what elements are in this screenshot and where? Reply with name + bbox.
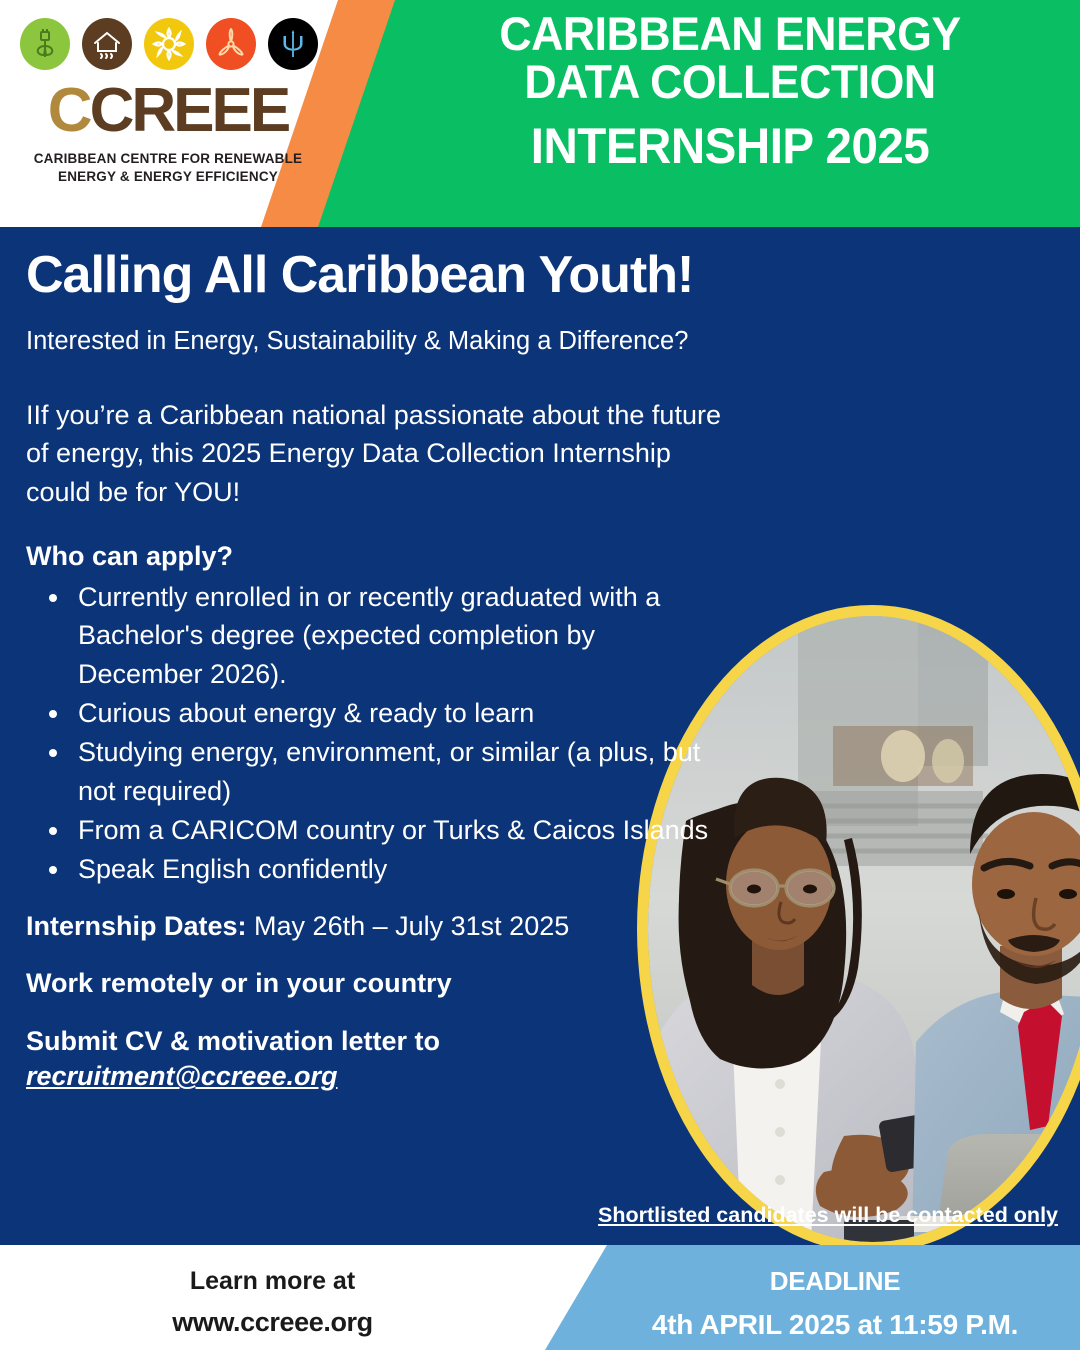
ccreee-logo: CCREEE CARIBBEAN CENTRE FOR RENEWABLE EN… [18, 18, 318, 186]
energy-efficient-house-icon [82, 18, 132, 70]
page-title: Calling All Caribbean Youth! [26, 247, 726, 304]
website-link[interactable]: www.ccreee.org [0, 1303, 545, 1342]
logo-wordmark: CCREEE [18, 80, 318, 142]
subheading: Interested in Energy, Sustainability & M… [26, 326, 726, 358]
list-item: Curious about energy & ready to learn [72, 694, 726, 732]
recruitment-email-link[interactable]: recruitment@ccreee.org [26, 1061, 337, 1091]
bioenergy-plug-plant-icon [20, 18, 70, 70]
logo-icon-row [20, 18, 318, 70]
header-band: CARIBBEAN ENERGY DATA COLLECTION INTERNS… [0, 0, 1080, 227]
logo-tagline-line2: ENERGY & ENERGY EFFICIENCY [18, 168, 318, 186]
header-title-line3: INTERNSHIP 2025 [426, 121, 1034, 172]
learn-more-label: Learn more at [190, 1267, 355, 1295]
internship-dates: Internship Dates: May 26th – July 31st 2… [26, 909, 726, 944]
header-title-line2: DATA COLLECTION [426, 58, 1034, 106]
internship-dates-label: Internship Dates: [26, 911, 247, 941]
list-item: Speak English confidently [72, 850, 726, 888]
main-content: Calling All Caribbean Youth! Interested … [26, 247, 726, 1095]
who-can-apply-label: Who can apply? [26, 541, 726, 572]
intro-paragraph: IIf you’re a Caribbean national passiona… [26, 396, 726, 511]
poster-root: CARIBBEAN ENERGY DATA COLLECTION INTERNS… [0, 0, 1080, 1350]
footer-band: Learn more at www.ccreee.org DEADLINE 4t… [0, 1245, 1080, 1350]
learn-more-block: Learn more at www.ccreee.org [0, 1263, 545, 1342]
list-item: Currently enrolled in or recently gradua… [72, 578, 726, 693]
wind-turbine-icon [206, 18, 256, 70]
solar-sun-icon [144, 18, 194, 70]
deadline-value: 4th APRIL 2025 at 11:59 P.M. [600, 1305, 1070, 1346]
logo-tagline-line1: CARIBBEAN CENTRE FOR RENEWABLE [18, 150, 318, 168]
submit-instructions: Submit CV & motivation letter to recruit… [26, 1024, 726, 1095]
main-body: Calling All Caribbean Youth! Interested … [0, 227, 1080, 1245]
trident-icon [268, 18, 318, 70]
header-title-line1: CARIBBEAN ENERGY [426, 10, 1034, 58]
header-title: CARIBBEAN ENERGY DATA COLLECTION INTERNS… [426, 10, 1034, 172]
shortlist-note: Shortlisted candidates will be contacted… [498, 1203, 1058, 1228]
logo-tagline: CARIBBEAN CENTRE FOR RENEWABLE ENERGY & … [18, 150, 318, 186]
work-location-note: Work remotely or in your country [26, 968, 726, 999]
list-item: From a CARICOM country or Turks & Caicos… [72, 811, 726, 849]
eligibility-list: Currently enrolled in or recently gradua… [26, 578, 726, 889]
internship-dates-value: May 26th – July 31st 2025 [247, 911, 570, 941]
logo-wordmark-first-letter: C [48, 76, 90, 145]
submit-label: Submit CV & motivation letter to [26, 1026, 440, 1056]
list-item: Studying energy, environment, or similar… [72, 733, 726, 810]
deadline-label: DEADLINE [770, 1266, 901, 1296]
deadline-block: DEADLINE 4th APRIL 2025 at 11:59 P.M. [600, 1263, 1070, 1345]
logo-wordmark-rest: CREEE [90, 76, 289, 145]
